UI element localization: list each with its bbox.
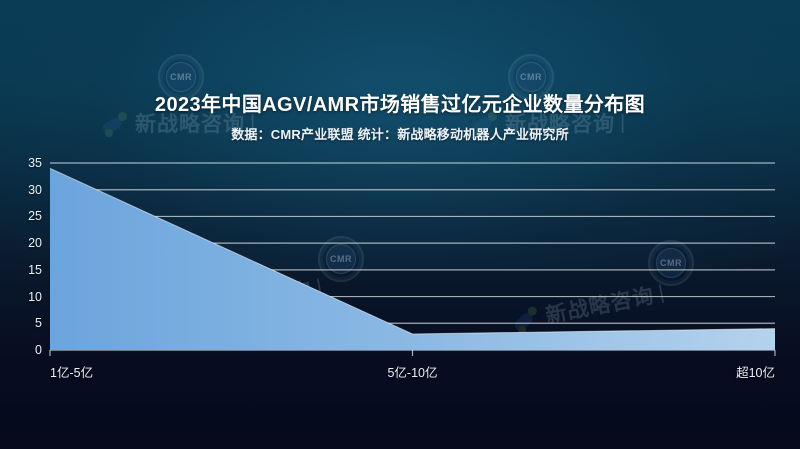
- y-axis-tick-label: 15: [8, 263, 42, 277]
- area-chart-svg: [0, 0, 800, 449]
- x-axis-tick-label: 1亿-5亿: [50, 362, 93, 381]
- y-axis-tick-label: 0: [8, 343, 42, 357]
- y-axis-tick-label: 20: [8, 236, 42, 250]
- y-axis-tick-label: 10: [8, 290, 42, 304]
- chart-canvas: 新战略咨询 | 新战略咨询 | 新战略咨询 | 新战略咨询 | CMR CMR …: [0, 0, 800, 449]
- plot-area: 05101520253035 1亿-5亿5亿-10亿超10亿: [0, 0, 800, 449]
- x-axis-tick-label: 5亿-10亿: [387, 362, 437, 381]
- y-axis-tick-label: 30: [8, 183, 42, 197]
- y-axis-tick-label: 5: [8, 316, 42, 330]
- y-axis-tick-label: 35: [8, 156, 42, 170]
- y-axis-tick-labels: 05101520253035: [8, 0, 42, 449]
- y-axis-tick-label: 25: [8, 209, 42, 223]
- x-axis: [50, 350, 775, 356]
- x-axis-tick-label: 超10亿: [736, 362, 775, 381]
